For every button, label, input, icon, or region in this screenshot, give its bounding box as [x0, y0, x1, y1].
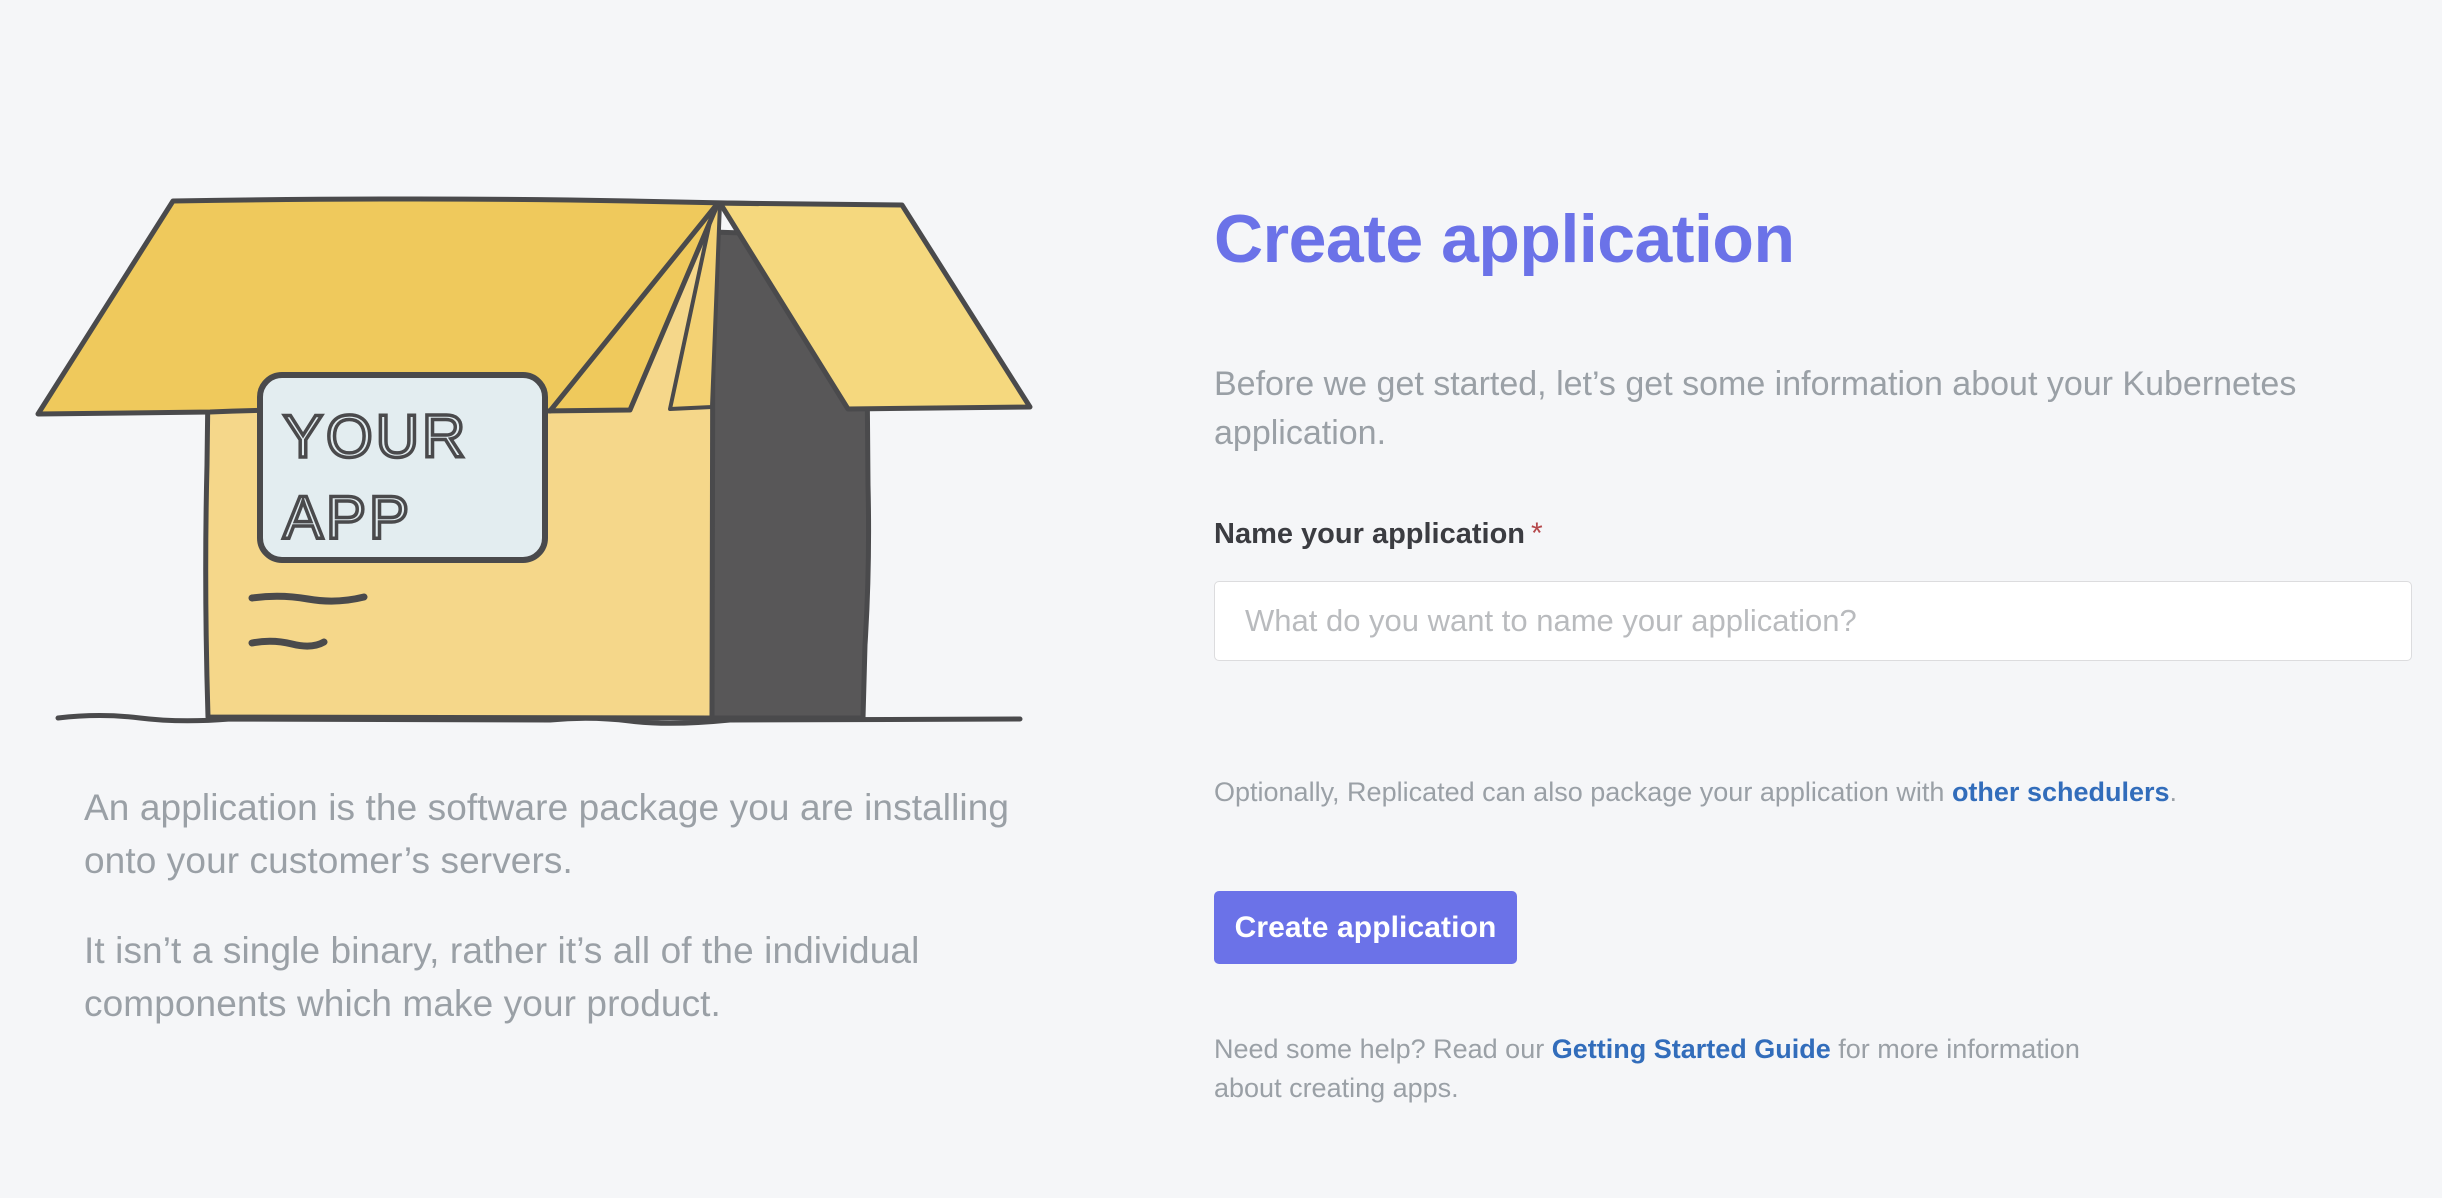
description-paragraph-1: An application is the software package y…: [84, 782, 1024, 887]
your-app-box-illustration: YOUR APP: [30, 185, 1040, 735]
description-paragraph-2: It isn’t a single binary, rather it’s al…: [84, 925, 1024, 1030]
help-text-prefix: Need some help? Read our: [1214, 1034, 1552, 1064]
left-description: An application is the software package y…: [84, 782, 1024, 1030]
create-application-page: YOUR APP An application is the software …: [0, 0, 2442, 1198]
page-subtitle: Before we get started, let’s get some in…: [1214, 360, 2349, 459]
svg-text:YOUR: YOUR: [283, 403, 468, 470]
other-schedulers-link[interactable]: other schedulers: [1952, 777, 2170, 807]
application-name-input[interactable]: [1214, 581, 2412, 661]
help-text: Need some help? Read our Getting Started…: [1214, 1030, 2114, 1108]
optional-note-suffix: .: [2170, 777, 2178, 807]
optional-schedulers-note: Optionally, Replicated can also package …: [1214, 777, 2177, 808]
left-info-column: YOUR APP An application is the software …: [0, 0, 1150, 1198]
create-application-button[interactable]: Create application: [1214, 891, 1517, 964]
required-asterisk: *: [1531, 517, 1543, 550]
page-title: Create application: [1214, 205, 1795, 273]
getting-started-guide-link[interactable]: Getting Started Guide: [1552, 1034, 1831, 1064]
create-application-form-column: Create application Before we get started…: [1214, 0, 2414, 1198]
optional-note-prefix: Optionally, Replicated can also package …: [1214, 777, 1952, 807]
name-field-label: Name your application*: [1214, 517, 1543, 551]
svg-text:APP: APP: [283, 484, 412, 551]
name-field-label-text: Name your application: [1214, 518, 1525, 550]
